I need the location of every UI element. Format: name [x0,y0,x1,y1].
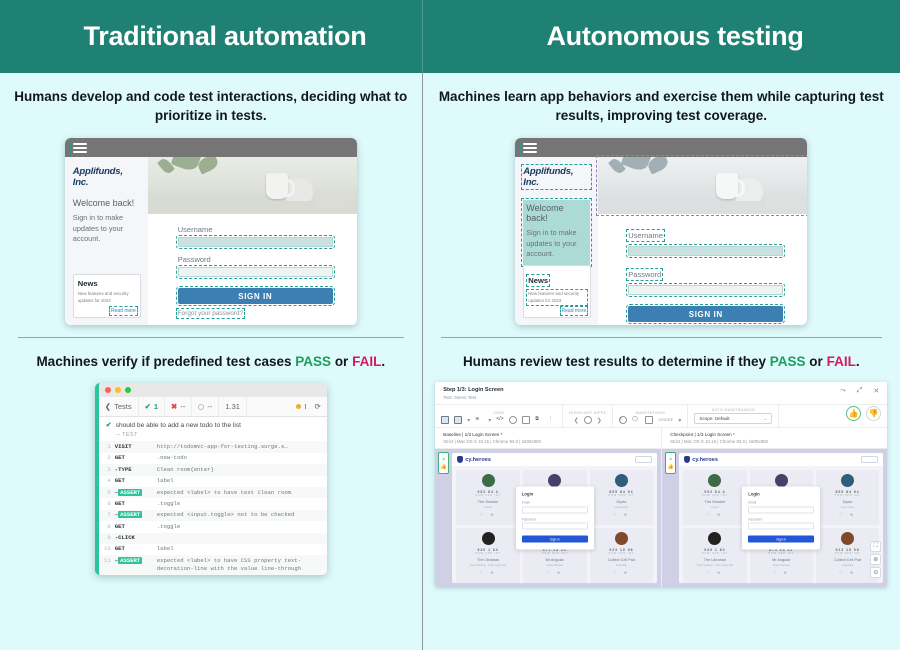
auto-maintenance-label: AUTO MAINTENANCE [712,408,755,412]
step-title: Step 1/3: Login Screen [443,387,503,393]
right-mock-body: Applifunds, Inc. Welcome back! Sign in t… [515,157,807,325]
hero-name: Mr Angular [546,558,564,562]
line-number: 9 [99,533,113,544]
right-caption-prefix: Humans review test results to determine … [463,354,770,369]
ignore-label: IGNORE [658,418,673,422]
chevron-down-icon[interactable]: ▾ [488,417,491,424]
maximize-traffic-light-icon[interactable] [125,387,131,393]
right-caption-fail: FAIL [827,354,856,369]
failed-count-cell: ✖ -- [165,397,192,416]
table-row: 8 GET .toggle [99,521,327,532]
app-brand: Applifunds, Inc. [73,166,140,188]
login-modal-email-input[interactable] [522,506,588,513]
infographic-page: Traditional automation Autonomous testin… [0,0,900,650]
hero-app-topbar: cy.heroes [452,453,657,466]
hero-sub: Forest [484,506,491,509]
view-group: VIEW ▾ ≋ ▾ </> ⧉ ⋮ [435,405,563,427]
hero-app-login-button[interactable] [861,456,878,463]
news-title: News [78,279,136,288]
login-modal-password-label: Password [522,517,588,521]
command-arg [155,533,327,544]
hero-app-topbar: cy.heroes [679,453,883,466]
duration-cell: 1.31 [219,397,247,416]
sign-in-button[interactable]: SIGN IN [178,288,333,304]
hero-name: Collect Cell Pad [608,558,635,562]
table-row: 10 GET label [99,544,327,555]
suite-label: – TEST [99,432,327,441]
username-label: Username [178,225,333,234]
test-runner-window: ❮ Tests ✔ 1 ✖ -- -- [95,383,327,575]
hero-app-logo: cy.heroes [684,456,718,463]
chevron-down-icon[interactable]: ▾ [678,417,681,424]
zoom-out-icon[interactable]: ⊖ [870,567,881,578]
left-app-mock-wrap: Applifunds, Inc. Welcome back! Sign in t… [0,138,422,325]
command-log-table: 1 VISIT http://todomvc-app-for-testing.s… [99,441,327,575]
fit-to-screen-icon[interactable]: ⛶ [870,541,881,552]
hero-photo [598,157,807,214]
baseline-pane[interactable]: ≠ 👍 cy.heroes [435,449,661,587]
more-options-icon[interactable]: ⋮ [548,416,556,424]
command-name: -TYPE [113,464,155,475]
command-arg: label [155,544,327,555]
next-diff-icon[interactable]: ❯ [597,417,602,424]
right-login-form: Username Password SIGN IN Forgot your pa… [598,214,807,325]
news-card: News New features and security updates f… [73,274,141,318]
auto-maintenance-group: AUTO MAINTENANCE Scope: Default ⌄ [688,405,779,427]
close-traffic-light-icon[interactable] [105,387,111,393]
baseline-screenshot: cy.heroes 552 84 4 POW SPD INT The Smoke… [452,453,657,583]
pane-rail-controls[interactable]: ≠ 👍 [665,452,676,474]
command-name: –ASSERT [113,487,155,498]
hamburger-menu-icon[interactable] [522,141,538,154]
command-arg: .toggle [155,521,327,532]
welcome-text: Welcome back! [526,203,587,223]
table-row: 1 VISIT http://todomvc-app-for-testing.s… [99,441,327,452]
hero-name: Mr Angular [772,558,790,562]
command-name: –ASSERT [113,510,155,521]
command-name: VISIT [113,441,155,452]
password-label: Password [178,255,333,264]
list-item[interactable]: 923 15 98 POW SPD INT Collect Cell Pad I… [590,528,654,583]
right-caption-bottom: Humans review test results to determine … [423,338,900,371]
suite-label-text: TEST [122,432,138,438]
ignore-region-icon[interactable] [645,416,653,424]
app-brand: Applifunds, Inc. [523,166,590,188]
highlight-diffs-label: HIGHLIGHT DIFFS [569,411,606,415]
target-diff-icon[interactable] [584,416,592,424]
left-mock-body: Applifunds, Inc. Welcome back! Sign in t… [65,157,357,325]
hero-sub: Lost Hunter [615,506,628,509]
line-number: 1 [99,441,113,452]
viewer-header-icons: ⤳ ⤢ ✕ [840,387,879,395]
login-modal-password-label: Password [748,517,814,521]
table-row: 6 GET .toggle [99,498,327,509]
table-row: 5 –ASSERT expected <label> to have text … [99,487,327,498]
pause-icon[interactable]: I [304,402,306,411]
signin-description: Sign in to make updates to your account. [73,213,140,245]
viewer-panes: ≠ 👍 cy.heroes [435,449,887,587]
left-caption-top: Humans develop and code test interaction… [0,73,422,125]
list-item[interactable]: 552 84 4 POW SPD INT The Smoker Forest ♡… [456,470,520,525]
viewer-meta-row: Baseline | 1/3 Login Screen * Strict | M… [435,428,887,449]
no-highlight-icon[interactable] [509,416,517,424]
baseline-meta: Baseline | 1/3 Login Screen * Strict | M… [435,428,661,448]
command-name: GET [113,453,155,464]
command-name: GET [113,544,155,555]
login-modal-title: Login [748,492,814,497]
comment-icon[interactable]: ◯ [632,416,640,424]
left-caption-middle: or [331,354,352,369]
login-modal-password-input[interactable] [522,523,588,530]
hero-sub: Invisibility [616,564,627,567]
not-equal-icon[interactable]: ≠ [669,457,672,463]
right-caption-middle: or [806,354,827,369]
expand-icon[interactable]: ⤢ [857,387,863,395]
command-arg: label [155,476,327,487]
hamburger-menu-icon[interactable] [72,141,88,154]
table-row: 9 -CLICK [99,533,327,544]
login-modal-submit-button[interactable]: Sign in [522,536,588,543]
hero-sub: Space Booster [546,564,563,567]
table-row: 11 –ASSERT expected <label> to have CSS … [99,555,327,575]
list-item[interactable]: 552 84 4 POW SPD INT The Smoker Forest ♡… [683,470,746,525]
previous-diff-icon[interactable]: ❮ [574,417,579,424]
link-regions-icon[interactable]: ⧉ [535,416,543,424]
line-number: 6 [99,498,113,509]
line-number: 8 [99,521,113,532]
login-modal: Login Email Password Sign in [742,487,820,550]
issue-icon[interactable]: ! [619,416,627,424]
chevron-left-icon: ❮ [105,402,111,411]
back-to-tests-label: Tests [114,402,132,411]
left-caption-fail: FAIL [352,354,381,369]
forgot-password-link[interactable]: Forgot your password? [178,310,243,317]
command-arg: expected <label> to have text Clean room [155,487,327,498]
status-dot-icon [296,404,301,409]
left-app-mock: Applifunds, Inc. Welcome back! Sign in t… [65,138,357,325]
list-item[interactable]: 855 84 94 POW SPD INT Dyoto Lost Hunter … [590,470,654,525]
runner-toolbar: ❮ Tests ✔ 1 ✖ -- -- [99,397,327,417]
suite-dash-icon: – [117,432,121,438]
list-item[interactable]: 855 84 94 POW SPD INT Dyoto Lost Hunter … [816,470,879,525]
test-runner-wrap: ❮ Tests ✔ 1 ✖ -- -- [0,383,422,575]
password-input[interactable] [178,267,333,277]
header-band: Traditional automation Autonomous testin… [0,0,900,73]
thumbs-down-reject-icon[interactable]: 👎 [866,406,881,421]
news-body: New features and security updates for 20… [528,291,586,304]
hero-sub: Invisibility [842,564,853,567]
header-divider [422,0,423,73]
cross-icon: ✖ [171,402,177,411]
passed-count: 1 [154,402,158,411]
line-number: 3 [99,464,113,475]
chevron-down-icon: ⌄ [763,416,767,422]
hero-app-logo-text: cy.heroes [692,457,718,463]
baseline-meta-line: Strict | Mac OS X 10.15 | Chrome 83.0 | … [443,439,653,444]
left-mock-sidebar: Applifunds, Inc. Welcome back! Sign in t… [65,157,148,325]
command-arg: .new-todo [155,453,327,464]
hero-name: The Smoker [478,500,499,504]
code-view-icon[interactable]: </> [496,416,504,424]
highlight-diffs-group: HIGHLIGHT DIFFS ❮ ❯ [563,405,613,427]
right-app-mock-wrap: Applifunds, Inc. Welcome back! Sign in t… [423,138,900,325]
visual-test-viewer: Step 1/3: Login Screen Test: Demo Test ⤳… [435,382,887,587]
columns-container: Humans develop and code test interaction… [0,73,900,650]
news-card: News New features and security updates f… [523,265,591,318]
command-arg: Clean room{enter} [155,464,327,475]
back-to-tests-button[interactable]: ❮ Tests [99,397,139,416]
header-right: Autonomous testing [450,0,900,73]
welcome-block: Welcome back! Sign in to make updates to… [523,200,590,265]
login-modal-email-input[interactable] [748,506,814,513]
failed-count: -- [180,402,185,411]
accept-reject-group: 👍 👎 [840,405,887,427]
table-row: 4 GET label [99,476,327,487]
password-input[interactable] [628,285,783,295]
header-left: Traditional automation [0,0,450,73]
duration-value: 1.31 [225,402,240,411]
hero-name: The Librarian [477,558,499,562]
shield-icon [684,456,690,463]
sign-in-button[interactable]: SIGN IN [628,306,783,322]
right-mock-titlebar [515,138,807,157]
annotations-label: ANNOTATIONS [635,411,665,415]
hero-app-logo-text: cy.heroes [465,457,491,463]
table-row: 2 GET .new-todo [99,453,327,464]
right-caption-suffix: . [856,354,860,369]
hero-sub: Lost Hunter [841,506,854,509]
not-equal-icon[interactable]: ≠ [442,457,445,463]
left-caption-pass: PASS [295,354,331,369]
right-caption-top: Machines learn app behaviors and exercis… [423,73,900,125]
zoom-controls: ⛶ ⊕ ⊖ [870,541,881,578]
command-name: -CLICK [113,533,155,544]
chevron-down-icon[interactable]: ▾ [467,417,470,424]
test-title: should be able to add a new todo to the … [116,422,241,429]
hero-sub: Space Booster [773,564,790,567]
hero-sub: Forest [711,506,718,509]
left-column-title: Traditional automation [84,21,367,52]
thumbs-up-accept-icon[interactable]: 👍 [846,406,861,421]
viewer-header: Step 1/3: Login Screen Test: Demo Test ⤳… [435,382,887,404]
left-login-form: Username Password SIGN IN Forgot your pa… [148,214,357,317]
username-label: Username [628,231,663,240]
list-item[interactable]: 530 1 84 POW SPD INT The Librarian Toxic… [456,528,520,583]
view-group-label: VIEW [493,411,504,415]
line-number: 5 [99,487,113,498]
check-icon: ✔ [145,402,151,411]
pane-rail-controls[interactable]: ≠ 👍 [438,452,449,474]
hero-app-logo: cy.heroes [457,456,491,463]
login-modal-title: Login [522,492,588,497]
hero-name: Dyoto [616,500,626,504]
right-app-mock: Applifunds, Inc. Welcome back! Sign in t… [515,138,807,325]
line-number: 11 [99,555,113,575]
line-number: 10 [99,544,113,555]
left-caption-prefix: Machines verify if predefined test cases [36,354,295,369]
right-mock-main: Username Password SIGN IN Forgot your pa… [598,157,807,325]
left-caption-bottom: Machines verify if predefined test cases… [0,338,422,371]
news-body: New features and security updates for 20… [78,291,136,304]
left-column: Humans develop and code test interaction… [0,73,422,650]
news-read-more-link[interactable]: Read more [111,308,136,314]
signin-description: Sign in to make updates to your account. [526,228,587,260]
baseline-title: Baseline | 1/3 Login Screen * [443,432,653,437]
line-number: 7 [99,510,113,521]
test-title-row: ✔ should be able to add a new todo to th… [99,417,327,432]
left-mock-main: Username Password SIGN IN Forgot your pa… [148,157,357,325]
table-row: 3 -TYPE Clean room{enter} [99,464,327,475]
right-column-title: Autonomous testing [546,21,803,52]
username-input[interactable] [628,246,783,256]
pending-count: -- [207,402,212,411]
right-mock-sidebar: Applifunds, Inc. Welcome back! Sign in t… [515,157,598,325]
command-name: GET [113,521,155,532]
checkpoint-meta: Checkpoint | 1/3 Login Screen * Strict |… [661,428,887,448]
hero-sub: Toxic Stealing · Giant Lapis Dev [470,564,507,567]
right-caption-pass: PASS [770,354,806,369]
thumbs-up-icon[interactable]: 👍 [668,464,674,470]
share-icon[interactable]: ⤳ [840,387,846,395]
side-by-side-view-icon[interactable] [441,416,449,424]
command-name: GET [113,498,155,509]
viewer-wrap: Step 1/3: Login Screen Test: Demo Test ⤳… [423,382,900,587]
zoom-in-icon[interactable]: ⊕ [870,554,881,565]
left-mock-titlebar [65,138,357,157]
scope-select[interactable]: Scope: Default ⌄ [694,413,772,424]
login-modal-password-input[interactable] [748,523,814,530]
test-name-label: Test: Demo Test [443,395,503,400]
region-icon[interactable] [522,416,530,424]
checkpoint-meta-line: Strict | Mac OS X 10.15 | Chrome 83.0 | … [670,439,879,444]
command-arg: http://todomvc-app-for-testing.surge.s… [155,441,327,452]
password-label: Password [628,270,661,279]
line-number: 4 [99,476,113,487]
shield-icon [457,456,463,463]
scope-select-value: Scope: Default [699,416,729,421]
hero-name: Collect Cell Pad [834,558,861,562]
login-modal-email-label: Email [748,501,814,505]
table-row: 7 –ASSERT expected <input.toggle> not to… [99,510,327,521]
hero-name: The Librarian [704,558,726,562]
hero-photo [148,157,357,214]
minimize-traffic-light-icon[interactable] [115,387,121,393]
thumbs-up-icon[interactable]: 👍 [441,464,447,470]
command-name: –ASSERT [113,555,155,575]
right-column: Machines learn app behaviors and exercis… [423,73,900,650]
news-title: News [528,276,548,285]
hero-name: The Smoker [705,500,726,504]
checkpoint-pane[interactable]: ≠ 👍 cy.heroes [661,449,887,587]
command-arg: expected <input.toggle> not to be checke… [155,510,327,521]
restart-icon[interactable]: ⟳ [314,402,320,411]
command-arg: .toggle [155,498,327,509]
login-modal: Login Email Password Sign in [516,487,594,550]
layers-icon[interactable]: ≋ [475,416,483,424]
checkpoint-title: Checkpoint | 1/3 Login Screen * [670,432,879,437]
login-modal-email-label: Email [522,501,588,505]
runner-titlebar [99,383,327,397]
login-modal-submit-button[interactable]: Sign in [748,536,814,543]
hero-name: Dyoto [843,500,853,504]
username-input[interactable] [178,237,333,247]
pending-count-cell: -- [192,397,219,416]
passed-count-cell: ✔ 1 [139,397,165,416]
command-arg: expected <label> to have CSS property te… [155,555,327,575]
hero-app-login-button[interactable] [635,456,652,463]
welcome-text: Welcome back! [73,198,140,208]
left-caption-suffix: . [381,354,385,369]
viewer-toolbar: VIEW ▾ ≋ ▾ </> ⧉ ⋮ [435,404,887,428]
news-read-more-link[interactable]: Read more [562,308,587,314]
close-icon[interactable]: ✕ [873,387,879,395]
hero-sub: Toxic Stealing · Giant Lapis Dev [697,564,734,567]
test-pass-check-icon: ✔ [106,421,112,429]
list-item[interactable]: 530 1 84 POW SPD INT The Librarian Toxic… [683,528,746,583]
line-number: 2 [99,453,113,464]
command-name: GET [113,476,155,487]
runner-controls: I ⟳ [290,397,326,416]
checkpoint-screenshot: cy.heroes 552 84 4 POW SPD INT The Smoke… [679,453,883,583]
annotations-group: ANNOTATIONS ! ◯ IGNORE ▾ [613,405,688,427]
circle-icon [198,404,204,410]
single-view-icon[interactable] [454,416,462,424]
